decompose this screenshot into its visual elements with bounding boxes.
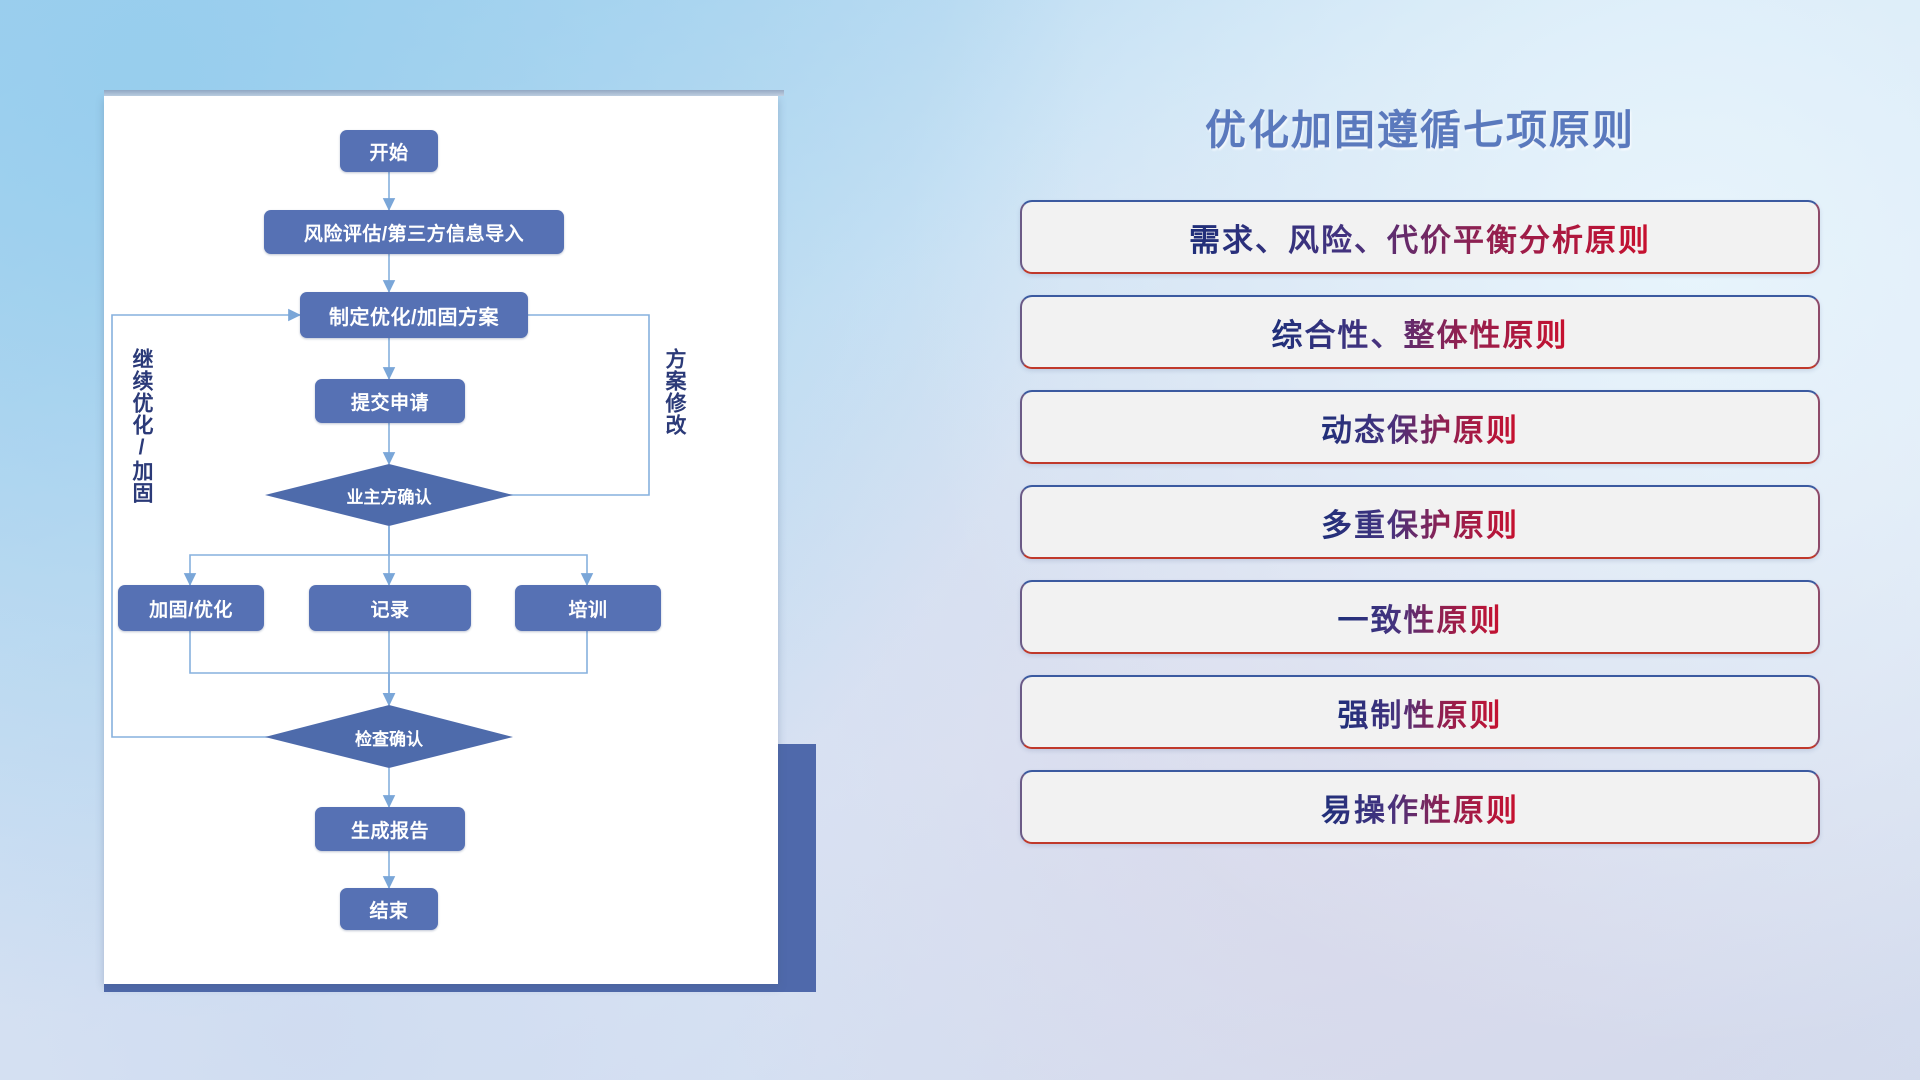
- decision-owner-confirm-shape: [265, 464, 513, 526]
- principle-card[interactable]: 综合性、整体性原则: [1020, 295, 1820, 369]
- flow-node-training-label: 培训: [568, 595, 607, 622]
- principle-card[interactable]: 一致性原则: [1020, 580, 1820, 654]
- decision-check-confirm-shape: [265, 705, 513, 768]
- flow-node-start-label: 开始: [369, 138, 408, 165]
- flow-node-end[interactable]: 结束: [340, 888, 438, 930]
- principle-card[interactable]: 强制性原则: [1020, 675, 1820, 749]
- principle-card-label: 需求、风险、代价平衡分析原则: [1189, 215, 1651, 260]
- flow-node-make-plan-label: 制定优化/加固方案: [329, 301, 499, 330]
- principle-card[interactable]: 易操作性原则: [1020, 770, 1820, 844]
- flowchart-card: 开始 风险评估/第三方信息导入 制定优化/加固方案 提交申请 业主方确认 加固/…: [104, 96, 778, 984]
- principle-card-label: 综合性、整体性原则: [1272, 310, 1569, 355]
- slide-canvas: 开始 风险评估/第三方信息导入 制定优化/加固方案 提交申请 业主方确认 加固/…: [0, 0, 1920, 1080]
- panel-title: 优化加固遵循七项原则: [1020, 96, 1820, 156]
- edge-label-continue-optimize: 继续优化/加固: [126, 348, 156, 504]
- flow-node-submit-application-label: 提交申请: [351, 388, 429, 415]
- flow-node-make-plan[interactable]: 制定优化/加固方案: [300, 292, 528, 338]
- flow-node-training[interactable]: 培训: [515, 585, 661, 631]
- edge-label-plan-revision: 方案修改: [659, 348, 689, 436]
- flow-node-submit-application[interactable]: 提交申请: [315, 379, 465, 423]
- flow-node-record[interactable]: 记录: [309, 585, 471, 631]
- principle-card-label: 多重保护原则: [1321, 500, 1519, 545]
- principle-card-label: 一致性原则: [1338, 595, 1503, 640]
- principle-card[interactable]: 多重保护原则: [1020, 485, 1820, 559]
- principle-card-label: 易操作性原则: [1321, 785, 1519, 830]
- principles-panel: 优化加固遵循七项原则 需求、风险、代价平衡分析原则 综合性、整体性原则 动态保护…: [1020, 96, 1820, 865]
- flow-node-generate-report-label: 生成报告: [351, 816, 429, 843]
- principle-card[interactable]: 动态保护原则: [1020, 390, 1820, 464]
- flow-node-reinforce-optimize-label: 加固/优化: [149, 595, 233, 622]
- flow-node-end-label: 结束: [369, 896, 408, 923]
- flow-node-start[interactable]: 开始: [340, 130, 438, 172]
- flow-node-reinforce-optimize[interactable]: 加固/优化: [118, 585, 264, 631]
- principle-card[interactable]: 需求、风险、代价平衡分析原则: [1020, 200, 1820, 274]
- flow-node-risk-assessment-label: 风险评估/第三方信息导入: [304, 219, 524, 246]
- principle-card-label: 强制性原则: [1338, 690, 1503, 735]
- flow-node-record-label: 记录: [370, 595, 409, 622]
- principle-card-label: 动态保护原则: [1321, 405, 1519, 450]
- flow-node-risk-assessment[interactable]: 风险评估/第三方信息导入: [264, 210, 564, 254]
- flow-node-generate-report[interactable]: 生成报告: [315, 807, 465, 851]
